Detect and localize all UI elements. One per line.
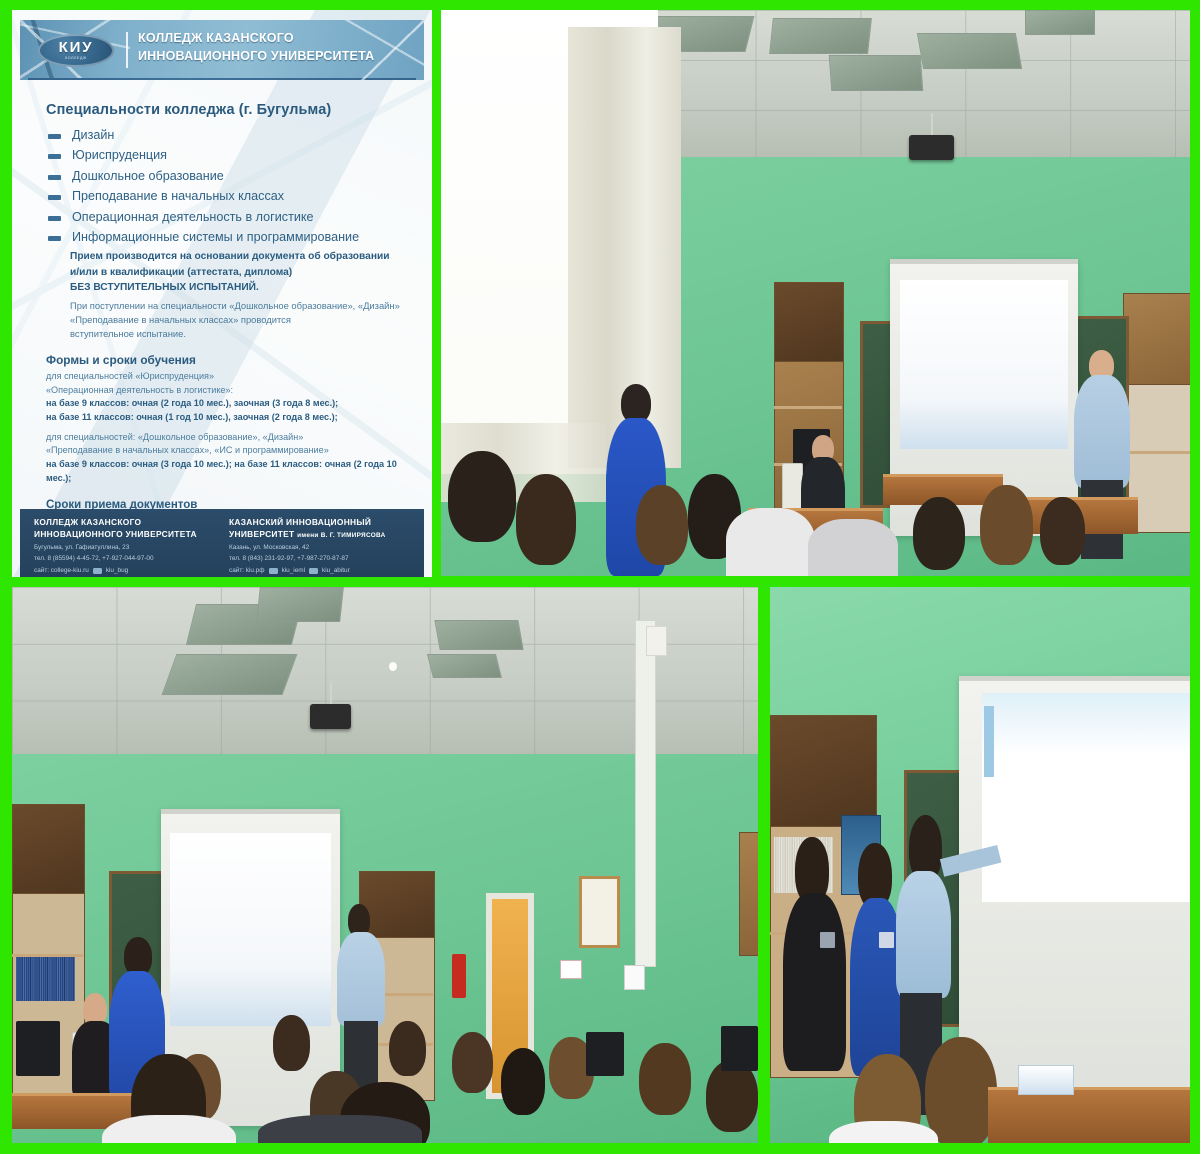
teacher-body	[337, 932, 385, 1027]
list-item: Дизайн	[46, 125, 418, 145]
teacher-body	[896, 871, 951, 999]
student-head	[452, 1032, 493, 1093]
shelf	[1123, 451, 1190, 454]
footer-university-title-line1: КАЗАНСКИЙ ИННОВАЦИОННЫЙ	[229, 517, 410, 529]
student-head	[925, 1037, 996, 1143]
exam-note-line1: При поступлении на специальности «Дошкол…	[70, 299, 418, 313]
poster-header-title: КОЛЛЕДЖ КАЗАНСКОГО ИННОВАЦИОННОГО УНИВЕР…	[138, 30, 374, 66]
projector	[909, 135, 954, 160]
teacher-body	[1074, 375, 1130, 488]
student-head	[516, 474, 576, 565]
projection-screen	[959, 676, 1190, 1098]
footer-college-site: сайт: college-kiu.ru	[34, 566, 89, 576]
list-item: Дошкольное образование	[46, 166, 418, 186]
footer-college-phone: тел. 8 (85594) 4-45-72, +7-927-044-97-00	[34, 554, 215, 564]
list-item: Информационные системы и программировани…	[46, 227, 418, 247]
vk-icon	[93, 568, 102, 574]
footer-college-vk: kiu_bug	[106, 566, 128, 576]
footer-university-column: КАЗАНСКИЙ ИННОВАЦИОННЫЙ УНИВЕРСИТЕТ имен…	[215, 517, 410, 577]
footer-college-column: КОЛЛЕДЖ КАЗАНСКОГО ИННОВАЦИОННОГО УНИВЕР…	[34, 517, 215, 577]
footer-university-site-row: сайт: kiu.рф kiu_ieml kiu_abitur	[229, 566, 410, 576]
ceiling-lamp	[917, 33, 1023, 69]
poster-footer: КОЛЛЕДЖ КАЗАНСКОГО ИННОВАЦИОННОГО УНИВЕР…	[20, 509, 424, 577]
cabinet	[359, 871, 436, 940]
footer-university-title: КАЗАНСКИЙ ИННОВАЦИОННЫЙ УНИВЕРСИТЕТ имен…	[229, 517, 410, 541]
volunteer-body	[783, 893, 846, 1071]
footer-university-title-main: УНИВЕРСИТЕТ	[229, 529, 294, 539]
vk-icon	[269, 568, 278, 574]
entrance-exam-note: При поступлении на специальности «Дошкол…	[70, 299, 418, 341]
student-head	[501, 1048, 546, 1115]
leaflet	[1018, 1065, 1075, 1095]
exam-note-line3: вступительное испытание.	[70, 327, 418, 341]
list-item: Юриспруденция	[46, 145, 418, 165]
admission-note-line2: и/или в квалификации (аттестата, диплома…	[70, 265, 418, 281]
admission-note-line1: Прием производится на основании документ…	[70, 249, 418, 265]
ceiling-lamp	[435, 620, 524, 650]
ceiling-lamp	[829, 55, 923, 91]
cabinet	[774, 282, 843, 363]
wall-sensor	[646, 626, 667, 656]
projector	[310, 704, 351, 729]
slide-image	[900, 280, 1069, 448]
header-title-line1: КОЛЛЕДЖ КАЗАНСКОГО	[138, 30, 374, 48]
kiu-logo-text: КИУ	[59, 40, 94, 55]
poster-header-band: КИУ КОЛЛЕДЖ КОЛЛЕДЖ КАЗАНСКОГО ИННОВАЦИО…	[20, 20, 424, 80]
monitor	[16, 1021, 61, 1077]
footer-university-phone: тел. 8 (843) 231-92-97, +7-987-270-87-87	[229, 554, 410, 564]
smoke-detector-icon	[389, 662, 397, 671]
study-forms-line1: для специальностей «Юриспруденция»	[46, 370, 418, 384]
footer-college-site-row: сайт: college-kiu.ru kiu_bug	[34, 566, 215, 576]
slide-image	[170, 833, 331, 1026]
poster-body: Специальности колледжа (г. Бугульма) Диз…	[46, 102, 418, 571]
student-body	[258, 1115, 422, 1143]
photo-bottom-right: Преподаватель указывает на проекционный …	[770, 587, 1190, 1143]
wall-sign	[624, 965, 645, 990]
vk-icon	[309, 568, 318, 574]
footer-college-title-line2: ИННОВАЦИОННОГО УНИВЕРСИТЕТА	[34, 529, 215, 541]
study-forms-title: Формы и сроки обучения	[46, 353, 418, 367]
student-head	[448, 451, 515, 542]
ceiling-lamp	[256, 587, 344, 622]
student-head	[1040, 497, 1085, 565]
student-head	[980, 485, 1032, 564]
kiu-badge	[879, 932, 894, 949]
kiu-badge	[820, 932, 835, 949]
footer-university-site: сайт: kiu.рф	[229, 566, 265, 576]
ceiling-lamp	[769, 18, 872, 54]
specialties-list: Дизайн Юриспруденция Дошкольное образова…	[46, 125, 418, 247]
study-forms-line2: «Операционная деятельность в логистике»:	[46, 384, 418, 398]
list-item: Операционная деятельность в логистике	[46, 207, 418, 227]
student-head	[913, 497, 965, 571]
photo-top-right: Классная аудитория: преподаватель у прое…	[441, 10, 1190, 576]
footer-university-address: Казань, ул. Московская, 42	[229, 543, 410, 553]
kiu-logo-subtext: КОЛЛЕДЖ	[65, 57, 87, 61]
study-forms-line4: на базе 11 классов: очная (1 год 10 мес.…	[46, 411, 418, 425]
books	[16, 957, 76, 1001]
cabinet	[739, 832, 758, 956]
student-body	[829, 1121, 938, 1143]
fire-extinguisher	[452, 954, 465, 998]
header-divider	[126, 32, 128, 68]
admission-bold-note: Прием производится на основании документ…	[70, 249, 418, 296]
kiu-logo: КИУ КОЛЛЕДЖ	[38, 34, 114, 67]
shelf	[774, 406, 841, 409]
footer-university-vk2: kiu_abitur	[322, 566, 350, 576]
study-forms-line7: на базе 9 классов: очная (3 года 10 мес.…	[46, 458, 418, 485]
footer-college-title-line1: КОЛЛЕДЖ КАЗАНСКОГО	[34, 517, 215, 529]
notice-board	[579, 876, 620, 948]
classroom-scene: Преподаватель указывает на проекционный …	[770, 587, 1190, 1143]
admission-note-line3: БЕЗ ВСТУПИТЕЛЬНЫХ ИСПЫТАНИЙ.	[70, 280, 418, 296]
study-forms-line5: для специальностей: «Дошкольное образова…	[46, 431, 418, 445]
study-forms-line3: на базе 9 классов: очная (2 года 10 мес.…	[46, 397, 418, 411]
desk	[988, 1087, 1190, 1143]
ceiling-lamp	[1025, 10, 1094, 35]
classroom-scene: Широкий вид аудитории: проектор на потол…	[12, 587, 758, 1143]
study-forms-line6: «Преподавание в начальных классах», «ИС …	[46, 444, 418, 458]
photo-collage: КИУ КОЛЛЕДЖ КОЛЛЕДЖ КАЗАНСКОГО ИННОВАЦИО…	[0, 0, 1200, 1154]
wall-duct	[635, 620, 656, 967]
student-head	[273, 1015, 310, 1071]
footer-university-vk1: kiu_ieml	[282, 566, 305, 576]
photo-bottom-left: Широкий вид аудитории: проектор на потол…	[12, 587, 758, 1143]
cabinet	[770, 715, 877, 828]
monitor	[586, 1032, 623, 1076]
student-body	[726, 508, 816, 576]
license-line: Лицензия Министерства РТ Серия 16Л01 № 0…	[28, 78, 416, 80]
student-body	[808, 519, 898, 576]
slide-image	[982, 693, 1190, 902]
specialties-title: Специальности колледжа (г. Бугульма)	[46, 102, 418, 118]
student-head	[636, 485, 688, 564]
student-body	[102, 1115, 236, 1143]
cabinet	[1123, 293, 1190, 386]
slide-accent	[984, 706, 993, 777]
monitor	[721, 1026, 758, 1070]
ceiling-lamp	[161, 654, 297, 695]
footer-university-title-sub: имени В. Г. ТИМИРЯСОВА	[297, 532, 385, 539]
ceiling-lamp	[427, 654, 502, 678]
student-head	[389, 1021, 426, 1077]
wall-sign	[560, 960, 581, 980]
admissions-poster: КИУ КОЛЛЕДЖ КОЛЛЕДЖ КАЗАНСКОГО ИННОВАЦИО…	[12, 10, 432, 577]
footer-college-address: Бугульма, ул. Гафиатуллина, 23	[34, 543, 215, 553]
classroom-scene: Классная аудитория: преподаватель у прое…	[441, 10, 1190, 576]
footer-college-title: КОЛЛЕДЖ КАЗАНСКОГО ИННОВАЦИОННОГО УНИВЕР…	[34, 517, 215, 541]
study-forms-section: Формы и сроки обучения для специальносте…	[46, 353, 418, 485]
header-title-line2: ИННОВАЦИОННОГО УНИВЕРСИТЕТА	[138, 48, 374, 66]
exam-note-line2: «Преподавание в начальных классах» прово…	[70, 313, 418, 327]
cabinet	[12, 804, 85, 895]
list-item: Преподавание в начальных классах	[46, 186, 418, 206]
student-head	[639, 1043, 691, 1115]
footer-university-title-line2: УНИВЕРСИТЕТ имени В. Г. ТИМИРЯСОВА	[229, 529, 410, 541]
